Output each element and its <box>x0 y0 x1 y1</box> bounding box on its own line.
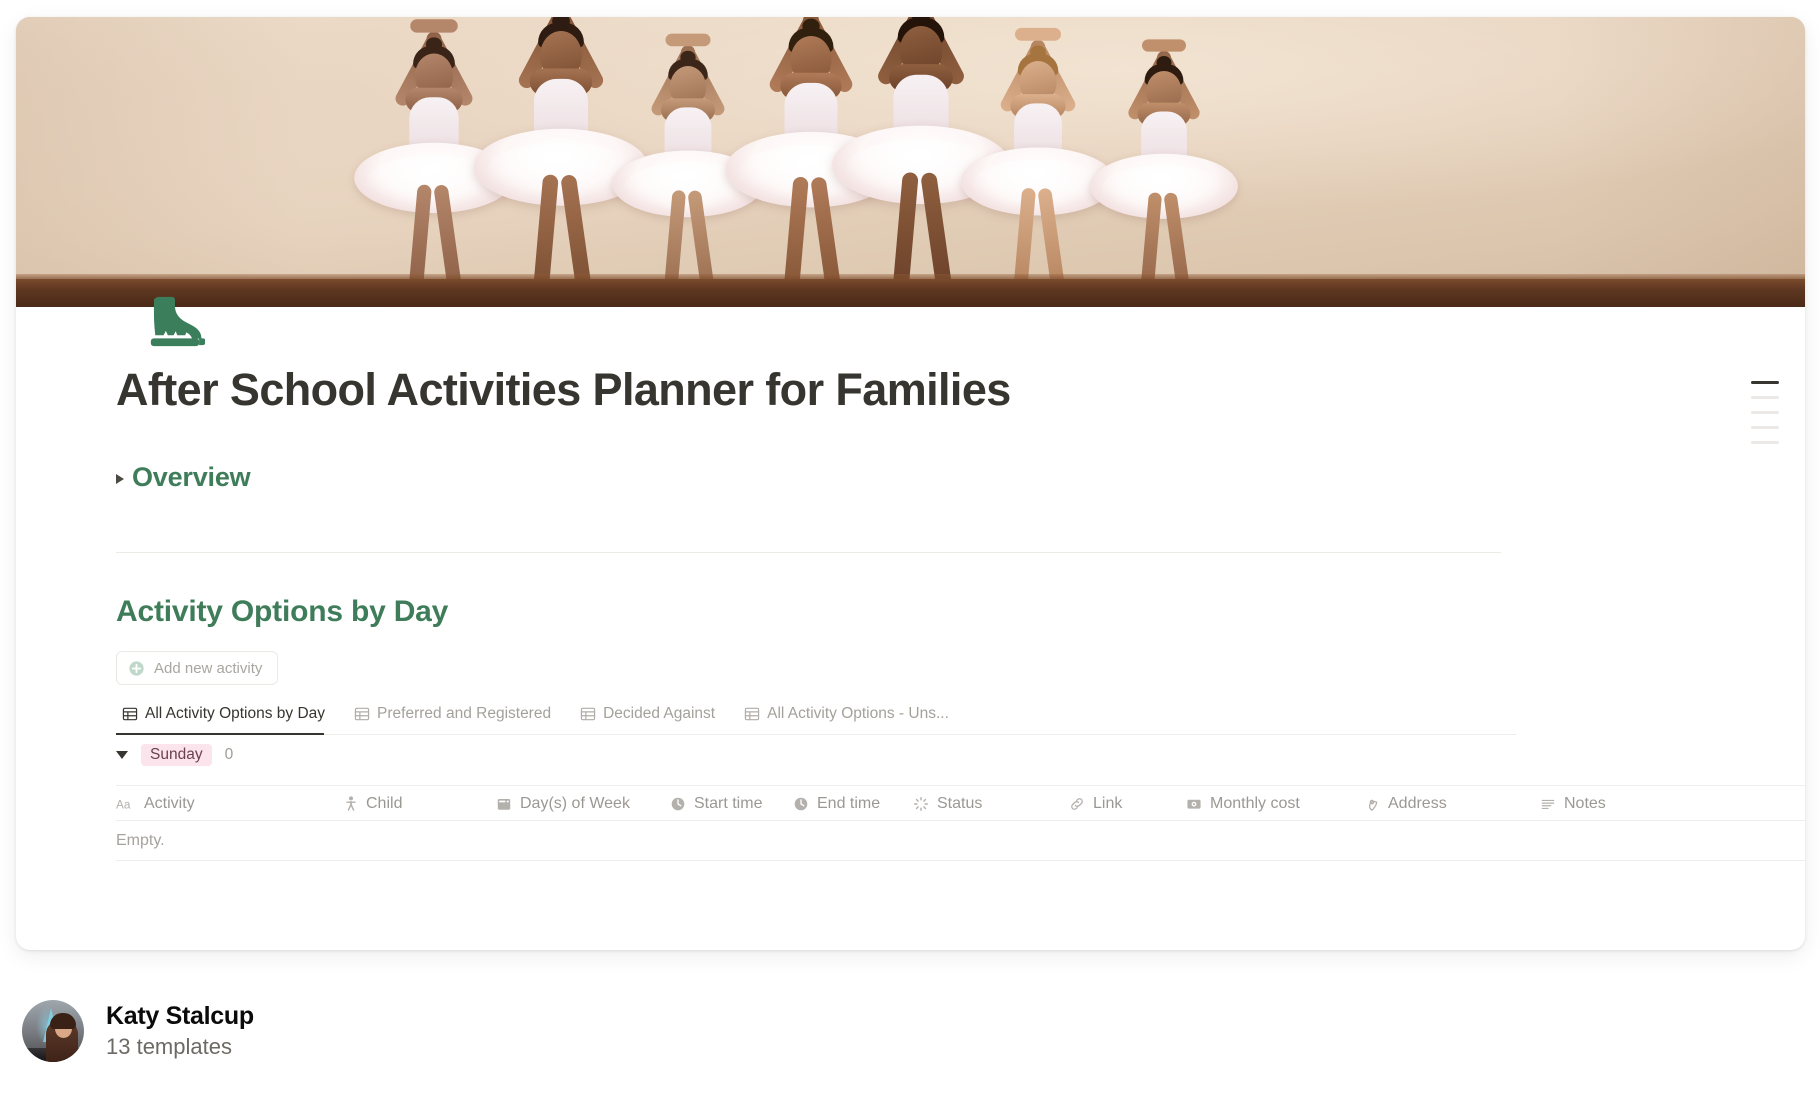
column-header-start-time[interactable]: Start time <box>670 786 762 822</box>
add-new-activity-button[interactable]: Add new activity <box>116 651 278 685</box>
tab-label: All Activity Options - Uns... <box>767 705 949 723</box>
lines-icon <box>1540 796 1556 812</box>
author-info: Katy Stalcup 13 templates <box>106 1002 254 1060</box>
column-label: Monthly cost <box>1210 795 1300 813</box>
avatar[interactable] <box>22 1000 84 1062</box>
table-of-contents-indicator[interactable] <box>1751 381 1783 456</box>
column-header-activity[interactable]: Aa Activity <box>116 786 195 822</box>
avatar-hair <box>50 1013 76 1029</box>
studio-floor <box>16 279 1805 307</box>
calendar-icon <box>496 796 512 812</box>
column-label: Address <box>1388 795 1447 813</box>
overview-toggle-block[interactable]: Overview <box>116 462 250 493</box>
group-header-sunday[interactable]: Sunday 0 <box>116 744 233 766</box>
column-header-status[interactable]: Status <box>913 786 982 822</box>
tab-label: Preferred and Registered <box>377 705 551 723</box>
toc-line[interactable] <box>1751 426 1779 429</box>
person-icon <box>344 796 358 812</box>
tab-label: Decided Against <box>603 705 715 723</box>
column-label: Notes <box>1564 795 1606 813</box>
tab-label: All Activity Options by Day <box>145 705 325 723</box>
table-icon <box>580 706 596 722</box>
table-empty-label: Empty. <box>116 832 165 850</box>
column-label: Link <box>1093 795 1122 813</box>
plus-circle-icon <box>128 660 145 677</box>
column-header-end-time[interactable]: End time <box>793 786 880 822</box>
hero-cover-image <box>16 17 1805 307</box>
table-column-header-row: Aa Activity Child <box>116 785 1805 821</box>
column-header-address[interactable]: Address <box>1364 786 1447 822</box>
column-label: Activity <box>144 795 195 813</box>
author-block[interactable]: Katy Stalcup 13 templates <box>22 1000 254 1062</box>
link-icon <box>1069 796 1085 812</box>
spinner-icon <box>913 796 929 812</box>
column-label: Status <box>937 795 982 813</box>
overview-label: Overview <box>132 462 250 493</box>
money-icon <box>1186 796 1202 812</box>
add-new-activity-label: Add new activity <box>154 660 262 677</box>
tab-all-activity-options-by-day[interactable]: All Activity Options by Day <box>116 700 336 734</box>
table-icon <box>744 706 760 722</box>
section-title: Activity Options by Day <box>116 595 448 629</box>
toc-line[interactable] <box>1751 441 1779 444</box>
section-divider <box>116 552 1501 553</box>
group-badge-label: Sunday <box>141 744 212 766</box>
ice-skate-icon[interactable] <box>143 295 205 349</box>
database-view-tabs: All Activity Options by Day Preferred an… <box>116 700 1516 735</box>
author-name: Katy Stalcup <box>106 1002 254 1031</box>
table-icon <box>354 706 370 722</box>
template-page-card: After School Activities Planner for Fami… <box>16 17 1805 950</box>
column-label: Day(s) of Week <box>520 795 630 813</box>
group-count: 0 <box>225 746 234 764</box>
table-empty-row[interactable]: Empty. <box>116 821 1805 861</box>
page-title: After School Activities Planner for Fami… <box>116 364 1011 416</box>
column-label: Child <box>366 795 402 813</box>
column-header-monthly-cost[interactable]: Monthly cost <box>1186 786 1300 822</box>
toc-line-active[interactable] <box>1751 381 1779 384</box>
author-template-count: 13 templates <box>106 1034 254 1060</box>
column-header-notes[interactable]: Notes <box>1540 786 1606 822</box>
column-label: Start time <box>694 795 762 813</box>
column-label: End time <box>817 795 880 813</box>
tab-all-activity-options-unsorted[interactable]: All Activity Options - Uns... <box>738 700 960 734</box>
map-pin-icon <box>1364 796 1380 812</box>
caret-down-icon[interactable] <box>116 751 128 759</box>
text-aa-icon: Aa <box>116 797 136 812</box>
tab-decided-against[interactable]: Decided Against <box>574 700 726 734</box>
toc-line[interactable] <box>1751 411 1779 414</box>
svg-text:Aa: Aa <box>116 797 131 811</box>
column-header-child[interactable]: Child <box>344 786 402 822</box>
clock-icon <box>793 796 809 812</box>
clock-icon <box>670 796 686 812</box>
column-header-link[interactable]: Link <box>1069 786 1122 822</box>
toc-line[interactable] <box>1751 396 1779 399</box>
collapsed-triangle-icon[interactable] <box>116 474 124 484</box>
column-header-days-of-week[interactable]: Day(s) of Week <box>496 786 630 822</box>
table-icon <box>122 706 138 722</box>
tab-preferred-and-registered[interactable]: Preferred and Registered <box>348 700 562 734</box>
